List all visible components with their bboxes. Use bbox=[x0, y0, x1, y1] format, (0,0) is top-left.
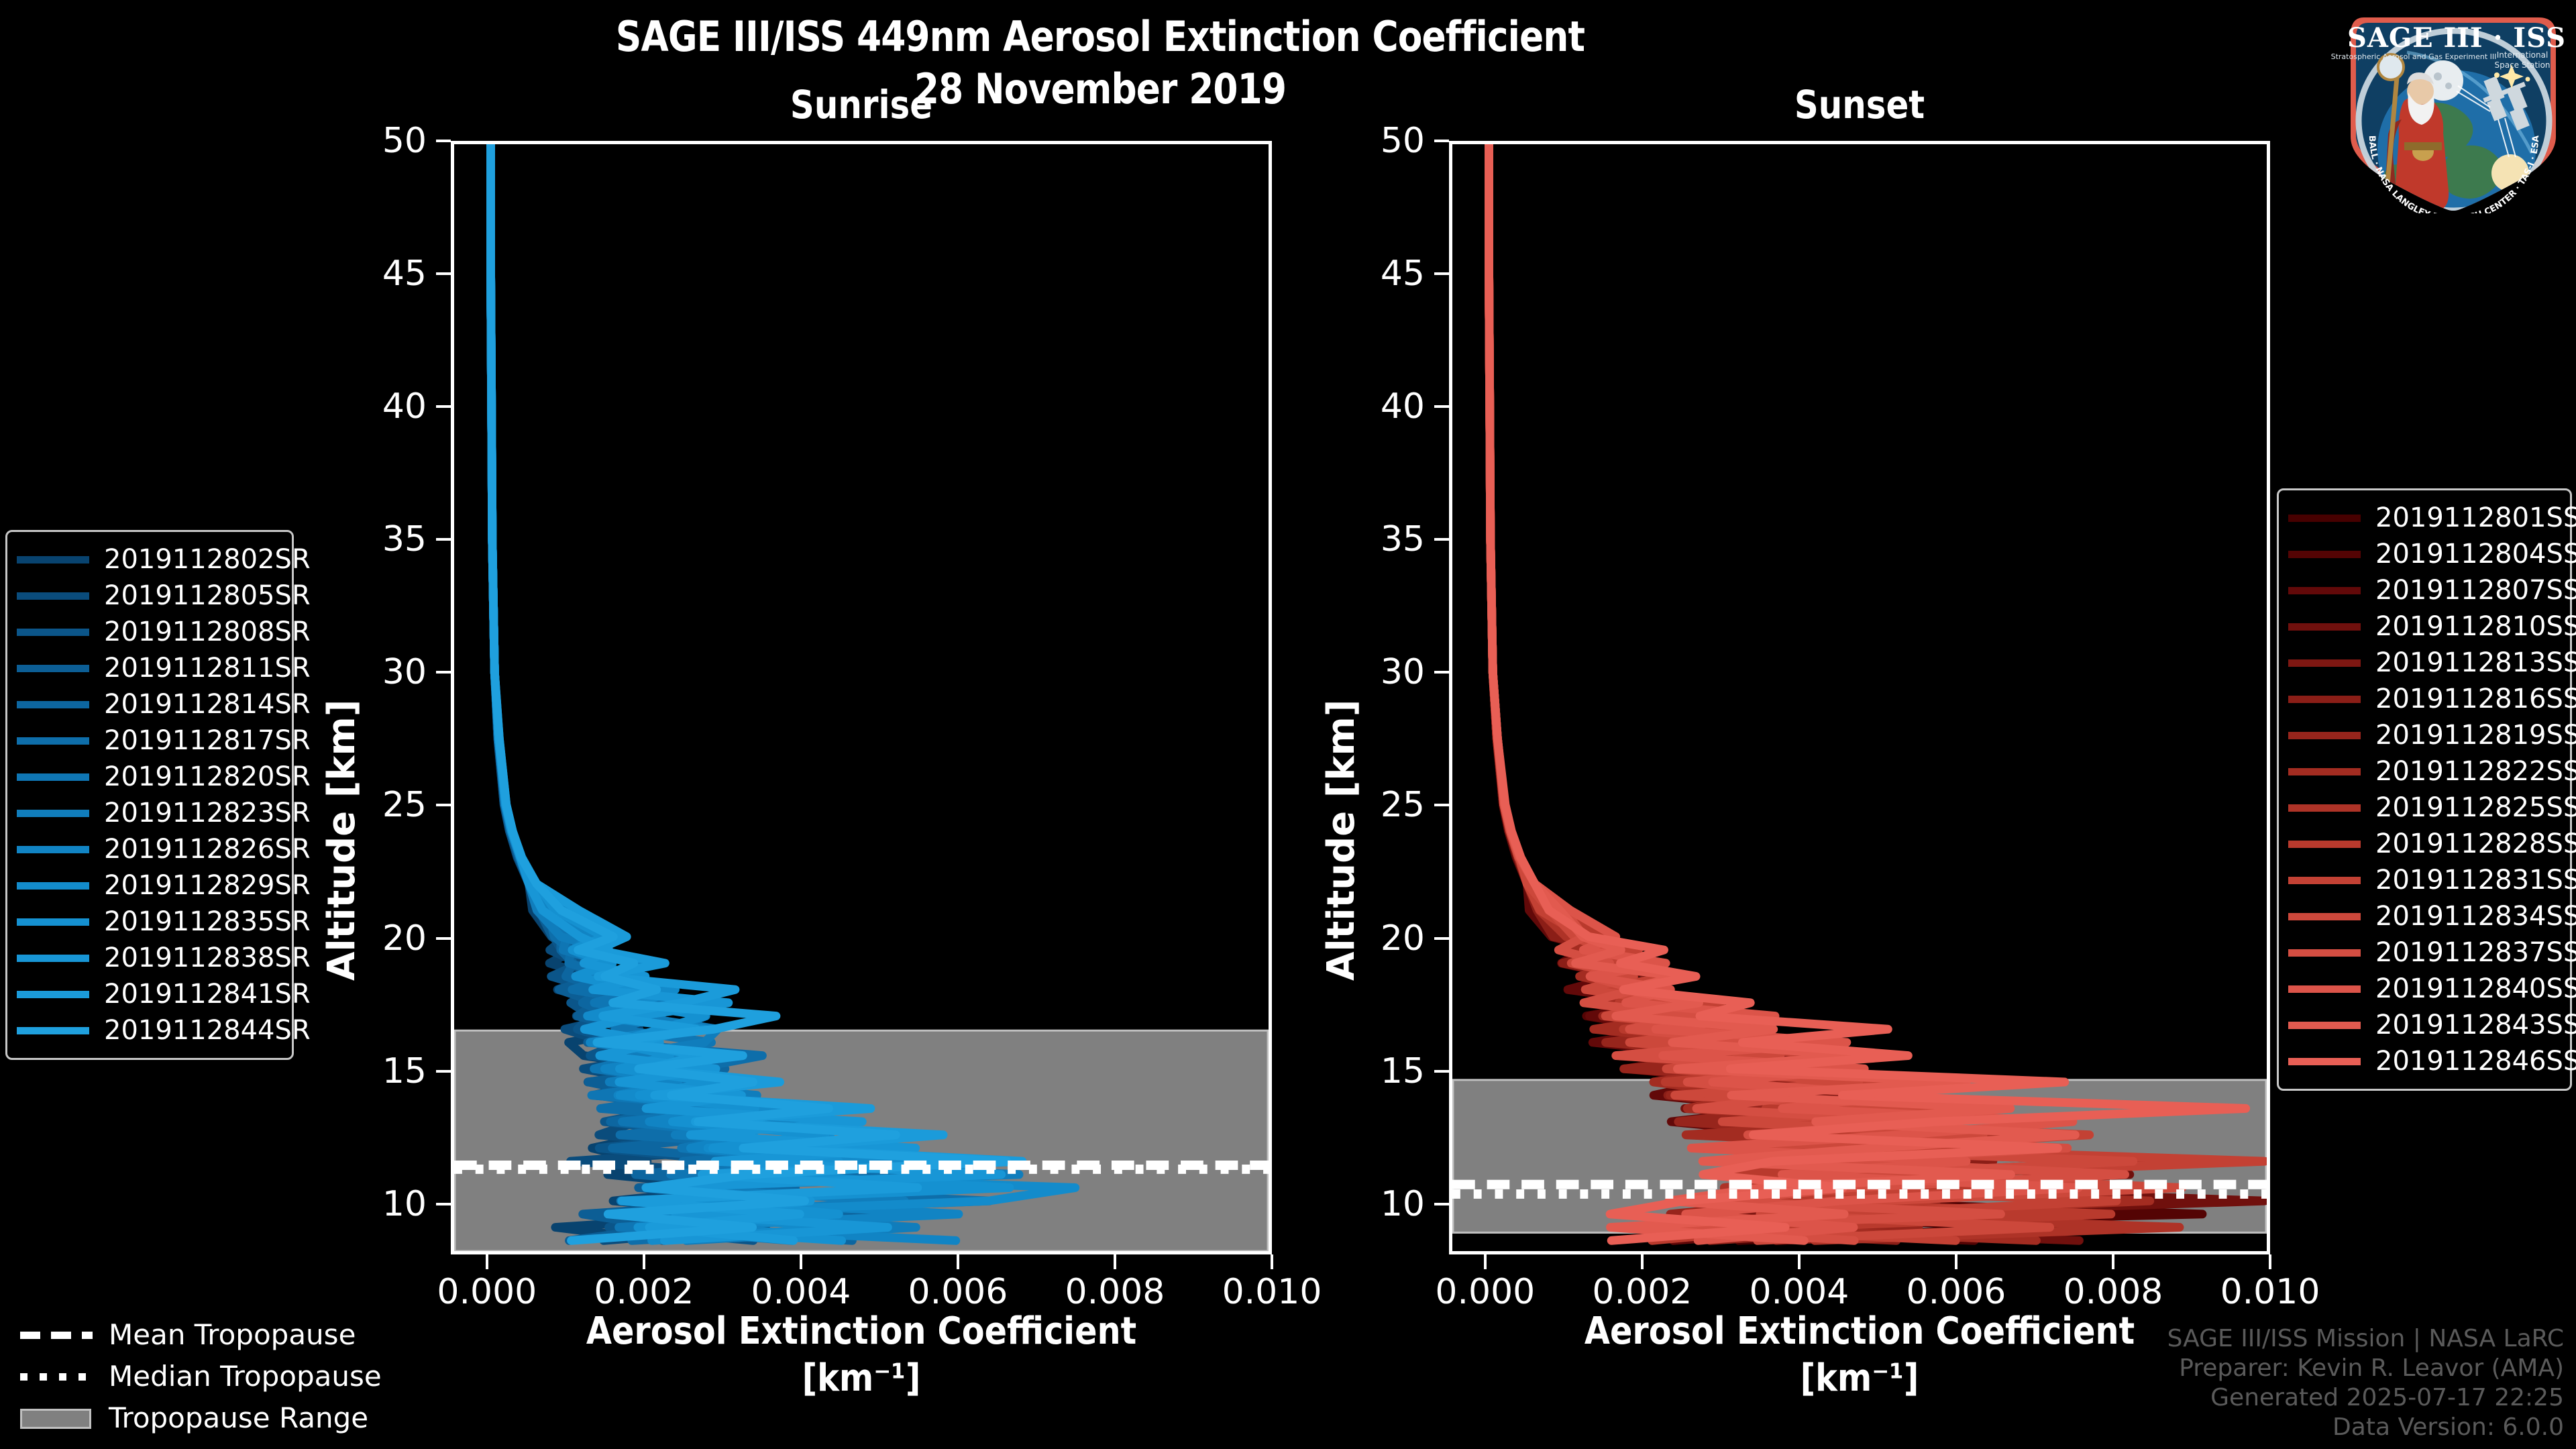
legend-item-label: 2019112811SR bbox=[104, 655, 311, 682]
legend-item-label: 2019112834SS bbox=[2375, 903, 2576, 930]
legend-item-label: 2019112823SR bbox=[104, 800, 311, 826]
sunset-x-axis-label: Aerosol Extinction Coefficient bbox=[1498, 1309, 2220, 1353]
x-axis-tick-mark bbox=[643, 1254, 645, 1269]
legend-item-sunset[interactable]: 2019112819SS bbox=[2288, 717, 2558, 753]
y-axis-tick-label: 30 bbox=[319, 655, 427, 690]
legend-color-swatch bbox=[17, 556, 89, 563]
legend-color-swatch bbox=[2288, 659, 2361, 667]
sunset-y-axis: 101520253035404550 bbox=[1315, 141, 1449, 1254]
legend-item-label: 2019112813SS bbox=[2375, 649, 2576, 676]
legend-color-swatch bbox=[2288, 949, 2361, 957]
legend-item-sunset[interactable]: 2019112825SS bbox=[2288, 790, 2558, 826]
dotted-line-icon bbox=[20, 1367, 93, 1386]
legend-item-label: 2019112810SS bbox=[2375, 613, 2576, 640]
x-axis-tick-mark bbox=[957, 1254, 959, 1269]
legend-color-swatch bbox=[17, 701, 89, 708]
y-axis-tick-mark bbox=[436, 1203, 451, 1205]
sunset-legend: 2019112801SS2019112804SS2019112807SS2019… bbox=[2277, 488, 2572, 1091]
y-axis-tick-label: 35 bbox=[1318, 522, 1425, 557]
y-axis-tick-mark bbox=[436, 804, 451, 806]
legend-color-swatch bbox=[17, 810, 89, 817]
legend-item-sunset[interactable]: 2019112801SS bbox=[2288, 500, 2558, 536]
legend-color-swatch bbox=[17, 991, 89, 998]
y-axis-tick-mark bbox=[436, 937, 451, 940]
legend-item-sunrise[interactable]: 2019112823SR bbox=[17, 795, 280, 831]
sunset-x-axis-unit: [km⁻¹] bbox=[1498, 1356, 2220, 1400]
dashed-line-icon bbox=[20, 1326, 93, 1344]
sunset-plot-area bbox=[1449, 141, 2270, 1254]
page-title: SAGE III/ISS 449nm Aerosol Extinction Co… bbox=[154, 12, 2047, 61]
x-axis-tick-mark bbox=[1271, 1254, 1273, 1269]
x-axis-tick-mark bbox=[1484, 1254, 1487, 1269]
sunrise-x-axis: 0.0000.0020.0040.0060.0080.010 bbox=[451, 1254, 1272, 1315]
legend-item-sunset[interactable]: 2019112837SS bbox=[2288, 934, 2558, 971]
x-axis-tick-mark bbox=[1641, 1254, 1644, 1269]
legend-item-label: 2019112820SR bbox=[104, 763, 311, 790]
legend-item-sunrise[interactable]: 2019112838SR bbox=[17, 940, 280, 976]
y-axis-tick-label: 40 bbox=[1318, 389, 1425, 424]
legend-item-label: 2019112829SR bbox=[104, 872, 311, 899]
legend-color-swatch bbox=[17, 955, 89, 962]
legend-color-swatch bbox=[2288, 623, 2361, 631]
legend-item-mean-tropopause: Mean Tropopause bbox=[20, 1315, 369, 1355]
legend-color-swatch bbox=[17, 846, 89, 853]
y-axis-tick-mark bbox=[1434, 671, 1449, 674]
tropopause-legend: Mean Tropopause Median Tropopause Tropop… bbox=[20, 1315, 369, 1440]
y-axis-tick-mark bbox=[1434, 1070, 1449, 1073]
y-axis-tick-label: 10 bbox=[1318, 1187, 1425, 1222]
moon-crater-1 bbox=[2434, 72, 2442, 80]
y-axis-tick-label: 40 bbox=[319, 389, 427, 424]
sunrise-x-axis-unit: [km⁻¹] bbox=[500, 1356, 1222, 1400]
y-axis-tick-mark bbox=[436, 538, 451, 541]
legend-item-label: 2019112831SS bbox=[2375, 867, 2576, 894]
legend-color-swatch bbox=[2288, 985, 2361, 993]
legend-item-sunrise[interactable]: 2019112811SR bbox=[17, 650, 280, 686]
legend-color-swatch bbox=[2288, 732, 2361, 739]
legend-item-sunrise[interactable]: 2019112826SR bbox=[17, 831, 280, 867]
patch-subtitle-right-2: Space Station bbox=[2494, 60, 2550, 70]
y-axis-tick-label: 45 bbox=[319, 256, 427, 291]
y-axis-tick-mark bbox=[436, 405, 451, 408]
legend-item-label: 2019112814SR bbox=[104, 691, 311, 718]
x-axis-tick-mark bbox=[2112, 1254, 2114, 1269]
legend-item-label: 2019112838SR bbox=[104, 945, 311, 971]
legend-item-label: 2019112817SR bbox=[104, 727, 311, 754]
legend-color-swatch bbox=[2288, 804, 2361, 812]
legend-item-label: 2019112801SS bbox=[2375, 504, 2576, 531]
y-axis-tick-mark bbox=[436, 1070, 451, 1073]
legend-item-label: 2019112807SS bbox=[2375, 577, 2576, 604]
median-tropopause-label: Median Tropopause bbox=[109, 1362, 382, 1391]
legend-color-swatch bbox=[2288, 1022, 2361, 1029]
y-axis-tick-label: 50 bbox=[1318, 123, 1425, 158]
legend-item-tropopause-range: Tropopause Range bbox=[20, 1398, 369, 1438]
legend-item-sunset[interactable]: 2019112828SS bbox=[2288, 826, 2558, 862]
legend-color-swatch bbox=[17, 629, 89, 636]
legend-item-label: 2019112826SR bbox=[104, 836, 311, 863]
x-axis-tick-mark bbox=[1114, 1254, 1116, 1269]
legend-item-sunrise[interactable]: 2019112817SR bbox=[17, 722, 280, 759]
sage-iii-iss-mission-patch-logo: BALL · NASA LANGLEY RESEARCH CENTER · TA… bbox=[2289, 5, 2571, 213]
legend-color-swatch bbox=[17, 882, 89, 890]
legend-item-sunrise[interactable]: 2019112829SR bbox=[17, 867, 280, 904]
legend-item-sunset[interactable]: 2019112804SS bbox=[2288, 536, 2558, 572]
legend-item-sunset[interactable]: 2019112807SS bbox=[2288, 572, 2558, 608]
legend-color-swatch bbox=[17, 737, 89, 745]
tropopause-range-label: Tropopause Range bbox=[109, 1404, 368, 1432]
y-axis-tick-label: 10 bbox=[319, 1187, 427, 1222]
legend-color-swatch bbox=[17, 592, 89, 600]
patch-subtitle-left: Stratospheric Aerosol and Gas Experiment… bbox=[2331, 52, 2497, 61]
sunrise-panel-heading: Sunrise bbox=[508, 82, 1215, 127]
sunset-x-axis: 0.0000.0020.0040.0060.0080.010 bbox=[1449, 1254, 2270, 1315]
legend-item-label: 2019112835SR bbox=[104, 908, 311, 935]
legend-color-swatch bbox=[2288, 551, 2361, 558]
legend-color-swatch bbox=[2288, 515, 2361, 522]
patch-subtitle-right-1: International bbox=[2497, 50, 2548, 60]
legend-item-label: 2019112841SR bbox=[104, 981, 311, 1008]
legend-item-sunrise[interactable]: 2019112814SR bbox=[17, 686, 280, 722]
moon-crater-2 bbox=[2445, 83, 2452, 89]
legend-item-sunset[interactable]: 2019112813SS bbox=[2288, 645, 2558, 681]
legend-item-sunrise[interactable]: 2019112820SR bbox=[17, 759, 280, 795]
y-axis-tick-label: 45 bbox=[1318, 256, 1425, 291]
y-axis-tick-mark bbox=[1434, 272, 1449, 275]
legend-item-label: 2019112819SS bbox=[2375, 722, 2576, 749]
sunrise-plot-svg bbox=[454, 144, 1269, 1251]
x-axis-tick-mark bbox=[1798, 1254, 1801, 1269]
sunset-panel-heading: Sunset bbox=[1507, 82, 2213, 127]
legend-item-sunrise[interactable]: 2019112841SR bbox=[17, 976, 280, 1012]
y-axis-tick-mark bbox=[1434, 405, 1449, 408]
y-axis-tick-mark bbox=[1434, 804, 1449, 806]
y-axis-tick-mark bbox=[1434, 538, 1449, 541]
legend-item-sunset[interactable]: 2019112843SS bbox=[2288, 1007, 2558, 1043]
legend-item-label: 2019112808SR bbox=[104, 619, 311, 645]
sunrise-legend: 2019112802SR2019112805SR2019112808SR2019… bbox=[5, 530, 294, 1060]
legend-color-swatch bbox=[17, 773, 89, 781]
x-axis-tick-mark bbox=[2269, 1254, 2271, 1269]
legend-item-label: 2019112805SR bbox=[104, 582, 311, 609]
credits-line-generated: Generated 2025-07-17 22:25 bbox=[2167, 1383, 2564, 1413]
legend-item-sunset[interactable]: 2019112816SS bbox=[2288, 681, 2558, 717]
patch-title: SAGE III · ISS bbox=[2347, 22, 2566, 54]
filled-band-icon bbox=[20, 1409, 93, 1428]
y-axis-tick-mark bbox=[1434, 937, 1449, 940]
mean-tropopause-label: Mean Tropopause bbox=[109, 1321, 356, 1349]
legend-color-swatch bbox=[2288, 1058, 2361, 1065]
y-axis-tick-mark bbox=[1434, 140, 1449, 142]
legend-item-sunset[interactable]: 2019112834SS bbox=[2288, 898, 2558, 934]
legend-item-sunrise[interactable]: 2019112805SR bbox=[17, 578, 280, 614]
legend-item-label: 2019112846SS bbox=[2375, 1048, 2576, 1075]
sunset-plot-svg bbox=[1452, 144, 2267, 1251]
legend-item-label: 2019112840SS bbox=[2375, 975, 2576, 1002]
legend-color-swatch bbox=[2288, 768, 2361, 775]
y-axis-tick-mark bbox=[436, 272, 451, 275]
legend-color-swatch bbox=[17, 918, 89, 926]
legend-item-sunset[interactable]: 2019112846SS bbox=[2288, 1043, 2558, 1079]
logo-svg: BALL · NASA LANGLEY RESEARCH CENTER · TA… bbox=[2289, 5, 2571, 213]
credits-line-preparer: Preparer: Kevin R. Leavor (AMA) bbox=[2167, 1354, 2564, 1383]
legend-item-label: 2019112804SS bbox=[2375, 541, 2576, 568]
y-axis-tick-label: 50 bbox=[319, 123, 427, 158]
legend-item-label: 2019112822SS bbox=[2375, 758, 2576, 785]
legend-color-swatch bbox=[2288, 913, 2361, 920]
y-axis-tick-label: 15 bbox=[1318, 1054, 1425, 1089]
legend-item-label: 2019112843SS bbox=[2375, 1012, 2576, 1038]
y-axis-tick-label: 30 bbox=[1318, 655, 1425, 690]
credits-block: SAGE III/ISS Mission | NASA LaRC Prepare… bbox=[2167, 1324, 2564, 1442]
legend-item-label: 2019112802SR bbox=[104, 546, 311, 573]
legend-item-sunset[interactable]: 2019112831SS bbox=[2288, 862, 2558, 898]
y-axis-tick-mark bbox=[436, 140, 451, 142]
legend-color-swatch bbox=[17, 1027, 89, 1034]
sunrise-x-axis-label: Aerosol Extinction Coefficient bbox=[500, 1309, 1222, 1353]
x-axis-tick-mark bbox=[1955, 1254, 1957, 1269]
legend-color-swatch bbox=[2288, 877, 2361, 884]
legend-item-label: 2019112816SS bbox=[2375, 686, 2576, 712]
sunrise-y-axis: 101520253035404550 bbox=[317, 141, 451, 1254]
credits-line-mission: SAGE III/ISS Mission | NASA LaRC bbox=[2167, 1324, 2564, 1354]
x-axis-tick-label: 0.010 bbox=[1178, 1273, 1366, 1311]
legend-color-swatch bbox=[17, 665, 89, 672]
x-axis-tick-label: 0.010 bbox=[2176, 1273, 2364, 1311]
legend-color-swatch bbox=[2288, 841, 2361, 848]
legend-color-swatch bbox=[2288, 587, 2361, 594]
legend-item-label: 2019112844SR bbox=[104, 1017, 311, 1044]
y-axis-tick-mark bbox=[436, 671, 451, 674]
y-axis-tick-label: 35 bbox=[319, 522, 427, 557]
legend-item-label: 2019112837SS bbox=[2375, 939, 2576, 966]
legend-color-swatch bbox=[2288, 696, 2361, 703]
profile-line bbox=[1489, 144, 2246, 1240]
legend-item-label: 2019112825SS bbox=[2375, 794, 2576, 821]
x-axis-tick-mark bbox=[800, 1254, 802, 1269]
y-axis-tick-mark bbox=[1434, 1203, 1449, 1205]
x-axis-tick-mark bbox=[486, 1254, 488, 1269]
legend-item-label: 2019112828SS bbox=[2375, 830, 2576, 857]
legend-item-median-tropopause: Median Tropopause bbox=[20, 1356, 369, 1397]
legend-item-sunset[interactable]: 2019112840SS bbox=[2288, 971, 2558, 1007]
sunrise-y-axis-label: Altitude [km] bbox=[320, 700, 364, 981]
legend-item-sunset[interactable]: 2019112822SS bbox=[2288, 753, 2558, 790]
legend-item-sunrise[interactable]: 2019112835SR bbox=[17, 904, 280, 940]
sunrise-plot-area bbox=[451, 141, 1272, 1254]
y-axis-tick-label: 15 bbox=[319, 1054, 427, 1089]
legend-item-sunrise[interactable]: 2019112844SR bbox=[17, 1012, 280, 1049]
sunset-y-axis-label: Altitude [km] bbox=[1320, 700, 1363, 981]
legend-item-sunset[interactable]: 2019112810SS bbox=[2288, 608, 2558, 645]
credits-line-version: Data Version: 6.0.0 bbox=[2167, 1413, 2564, 1442]
legend-item-sunrise[interactable]: 2019112808SR bbox=[17, 614, 280, 650]
legend-item-sunrise[interactable]: 2019112802SR bbox=[17, 541, 280, 578]
